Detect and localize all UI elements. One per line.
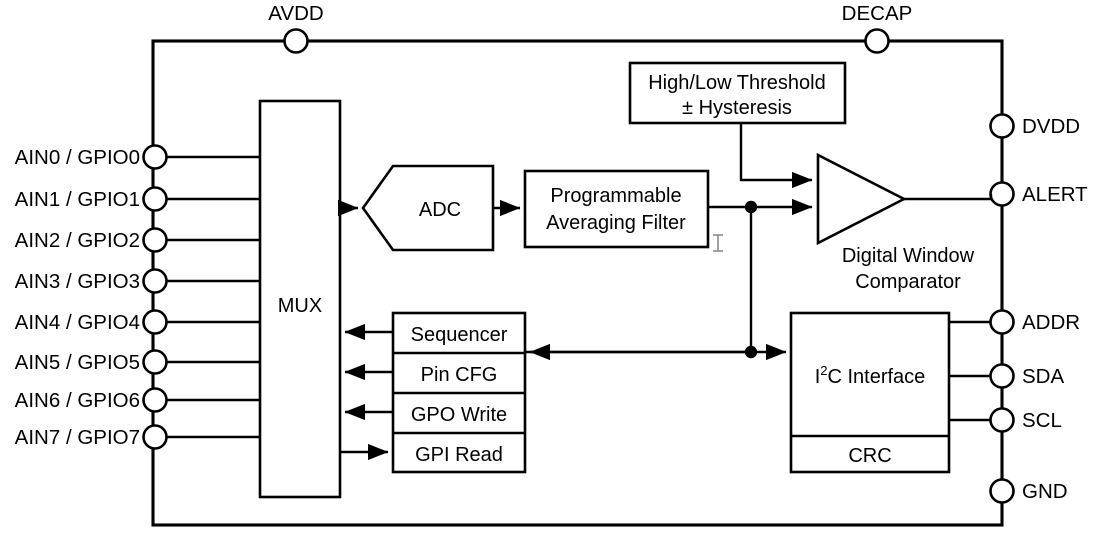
block-programmable-averaging-filter[interactable]: Programmable Averaging Filter [525,171,708,247]
pin-label-scl: SCL [1022,409,1062,432]
pin-gnd[interactable]: GND [991,480,1068,504]
block-label-adc: ADC [419,199,461,221]
block-label-gpi-read: GPI Read [415,444,503,466]
pin-label-gnd: GND [1022,480,1068,503]
pin-scl[interactable]: SCL [991,409,1062,433]
pin-addr[interactable]: ADDR [991,311,1081,335]
left-pin-group: AIN0 / GPIO0 AIN1 / GPIO1 AIN2 / GPIO2 A… [15,146,260,450]
pin-circle-addr[interactable] [991,311,1014,334]
block-crc[interactable]: CRC [848,445,891,467]
block-control-stack: Sequencer Pin CFG GPO Write GPI Read [393,313,525,472]
block-label-comparator-line2: Comparator [855,271,961,293]
pin-ain0-gpio0[interactable]: AIN0 / GPIO0 [15,146,260,170]
block-label-crc: CRC [848,445,891,467]
pin-label-ain4: AIN4 / GPIO4 [15,311,140,334]
pin-circle-ain4[interactable] [144,311,167,334]
block-label-comparator-line1: Digital Window [842,245,975,267]
pin-avdd[interactable]: AVDD [268,2,323,53]
pin-label-ain6: AIN6 / GPIO6 [15,389,140,412]
pin-ain2-gpio2[interactable]: AIN2 / GPIO2 [15,229,260,253]
block-label-sequencer: Sequencer [411,324,508,346]
pin-sda[interactable]: SDA [991,365,1065,389]
pin-circle-alert[interactable] [991,183,1014,206]
pin-label-sda: SDA [1022,365,1064,388]
block-label-i2c-superscript: 2 [820,363,827,378]
pin-circle-ain3[interactable] [144,270,167,293]
pin-circle-sda[interactable] [991,365,1014,388]
block-label-filter-line1: Programmable [550,185,681,207]
pin-circle-scl[interactable] [991,409,1014,432]
pin-dvdd[interactable]: DVDD [991,115,1081,139]
pin-label-ain1: AIN1 / GPIO1 [15,188,140,211]
pin-label-ain3: AIN3 / GPIO3 [15,270,140,293]
wire-threshold-to-comparator [741,123,812,180]
junction-dot-filter-output [745,201,757,213]
pin-label-decap: DECAP [842,2,913,25]
block-label-i2c-suffix: C Interface [827,366,925,388]
pin-alert[interactable]: ALERT [991,183,1089,207]
block-label-threshold-line2: ± Hysteresis [682,97,792,119]
pin-circle-decap[interactable] [866,30,889,53]
pin-label-ain0: AIN0 / GPIO0 [15,146,140,169]
pin-label-dvdd: DVDD [1022,115,1080,138]
pin-circle-ain5[interactable] [144,351,167,374]
pin-circle-avdd[interactable] [285,30,308,53]
pin-ain3-gpio3[interactable]: AIN3 / GPIO3 [15,270,260,294]
pin-ain7-gpio7[interactable]: AIN7 / GPIO7 [15,426,260,450]
pin-circle-ain2[interactable] [144,229,167,252]
block-label-i2c: I2C Interface [815,363,926,388]
pin-circle-ain1[interactable] [144,188,167,211]
pin-circle-ain0[interactable] [144,146,167,169]
block-adc[interactable]: ADC [363,166,493,250]
pin-label-ain7: AIN7 / GPIO7 [15,426,140,449]
block-label-mux: MUX [278,295,322,317]
pin-label-ain5: AIN5 / GPIO5 [15,351,140,374]
block-label-pin-cfg: Pin CFG [421,364,498,386]
pin-ain6-gpio6[interactable]: AIN6 / GPIO6 [15,389,260,413]
right-pin-group: DVDD ALERT ADDR SDA SCL GND [991,115,1089,504]
block-high-low-threshold[interactable]: High/Low Threshold ± Hysteresis [630,63,845,123]
pin-ain4-gpio4[interactable]: AIN4 / GPIO4 [15,311,260,335]
pin-label-addr: ADDR [1022,311,1080,334]
pin-label-ain2: AIN2 / GPIO2 [15,229,140,252]
block-mux[interactable]: MUX [260,101,340,497]
block-label-threshold-line1: High/Low Threshold [648,72,826,94]
pin-label-avdd: AVDD [268,2,323,25]
pin-ain1-gpio1[interactable]: AIN1 / GPIO1 [15,188,260,212]
block-label-gpo-write: GPO Write [411,404,507,426]
pin-circle-ain7[interactable] [144,426,167,449]
block-digital-window-comparator[interactable]: Digital Window Comparator [818,155,975,293]
pin-ain5-gpio5[interactable]: AIN5 / GPIO5 [15,351,260,375]
pin-circle-dvdd[interactable] [991,115,1014,138]
pin-circle-gnd[interactable] [991,480,1014,503]
pin-decap[interactable]: DECAP [842,2,913,53]
text-cursor-ibeam [713,235,723,251]
block-label-filter-line2: Averaging Filter [546,212,686,234]
pin-circle-ain6[interactable] [144,389,167,412]
pin-label-alert: ALERT [1022,183,1088,206]
block-diagram-svg: AVDD DECAP AIN0 / GPIO0 AIN1 / GPIO1 [0,0,1100,538]
block-diagram-canvas: AVDD DECAP AIN0 / GPIO0 AIN1 / GPIO1 [0,0,1100,538]
